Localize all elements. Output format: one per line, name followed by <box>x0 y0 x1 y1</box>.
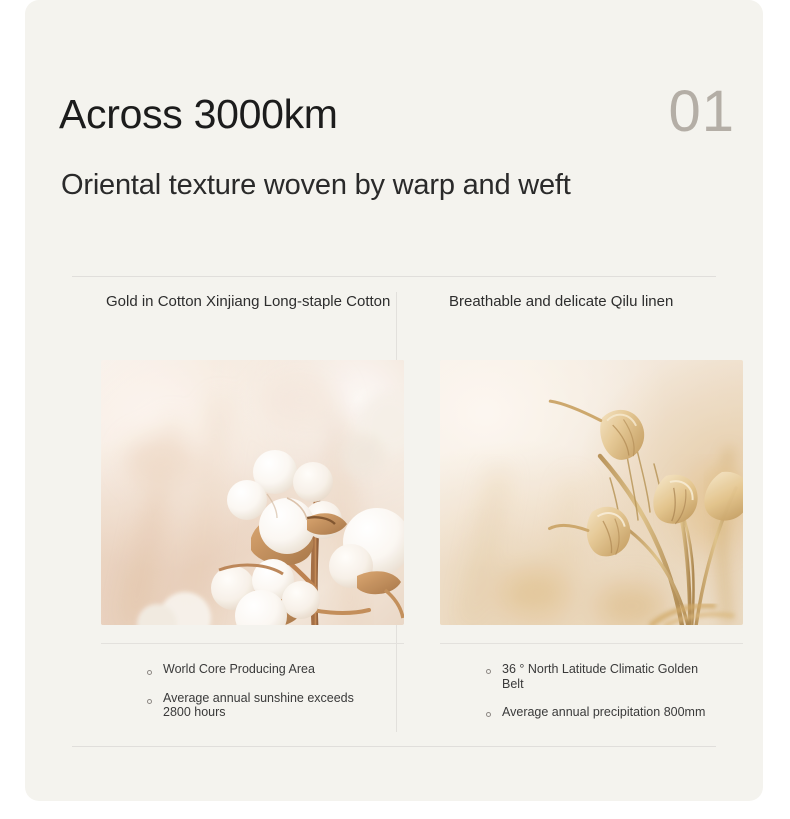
content-card: Across 3000km 01 Oriental texture woven … <box>25 0 763 801</box>
facts-list-cotton: World Core Producing Area Average annual… <box>147 662 417 734</box>
fact-text: Average annual sunshine exceeds 2800 hou… <box>163 691 354 720</box>
flax-buds-photo <box>440 360 743 625</box>
fact-text: Average annual precipitation 800mm <box>502 705 705 719</box>
fact-item: 36 ° North Latitude Climatic Golden Belt <box>486 662 717 691</box>
column-heading-cotton: Gold in Cotton Xinjiang Long-staple Cott… <box>106 292 406 311</box>
fact-item: Average annual sunshine exceeds 2800 hou… <box>147 691 363 720</box>
step-number-badge: 01 <box>668 80 735 144</box>
header-section: Across 3000km 01 Oriental texture woven … <box>25 0 763 240</box>
fact-item: Average annual precipitation 800mm <box>486 705 717 720</box>
bullet-circle-icon <box>147 699 152 704</box>
facts-divider-linen <box>440 643 743 644</box>
bullet-circle-icon <box>147 670 152 675</box>
facts-list-linen: 36 ° North Latitude Climatic Golden Belt… <box>486 662 756 734</box>
column-heading-linen: Breathable and delicate Qilu linen <box>449 292 749 311</box>
bullet-circle-icon <box>486 712 491 717</box>
cotton-bolls-photo <box>101 360 404 625</box>
fact-text: World Core Producing Area <box>163 662 315 676</box>
divider-top <box>72 276 716 277</box>
fact-text: 36 ° North Latitude Climatic Golden Belt <box>502 662 698 691</box>
bullet-circle-icon <box>486 669 491 674</box>
page-title: Across 3000km <box>59 88 338 140</box>
page-subtitle: Oriental texture woven by warp and weft <box>61 165 571 205</box>
page-root: Across 3000km 01 Oriental texture woven … <box>0 0 790 819</box>
divider-bottom <box>72 746 716 747</box>
cotton-bolls-illustration <box>101 360 404 625</box>
flax-buds-illustration <box>440 360 743 625</box>
column-cotton: Gold in Cotton Xinjiang Long-staple Cott… <box>55 292 395 742</box>
facts-divider-cotton <box>101 643 404 644</box>
fact-item: World Core Producing Area <box>147 662 363 677</box>
column-linen: Breathable and delicate Qilu linen <box>406 292 746 742</box>
